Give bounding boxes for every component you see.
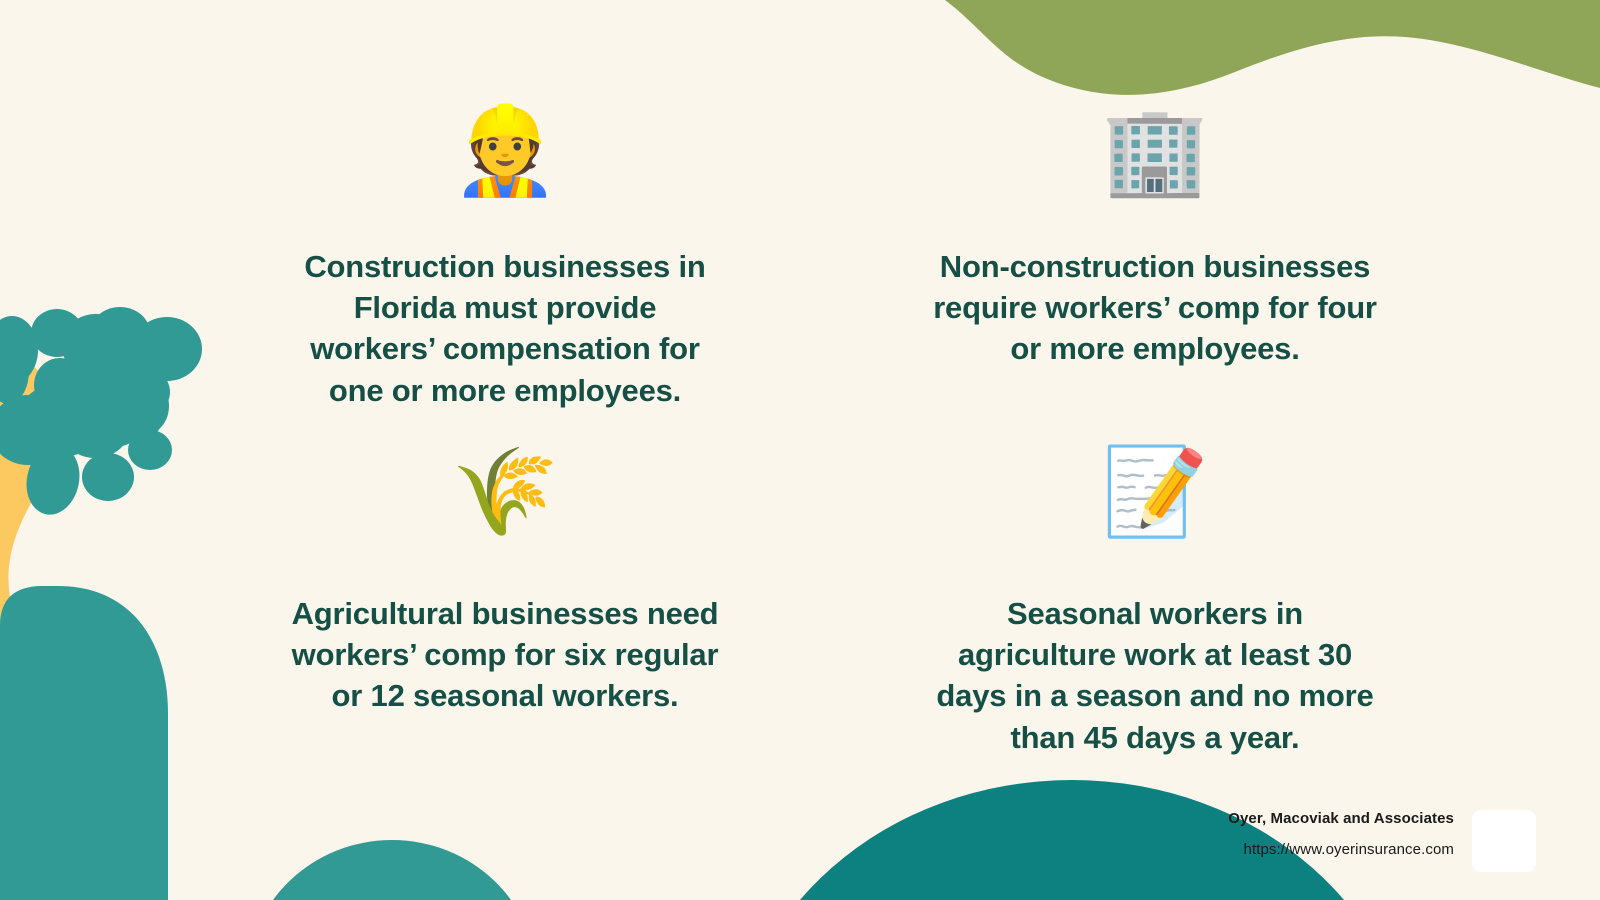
office-building-icon: 🏢 [1101,92,1208,210]
brand-block: Oyer, Macoviak and Associates https://ww… [1228,810,1454,858]
card-non-construction-text: Non-construction businesses require work… [930,246,1380,370]
card-agricultural-text: Agricultural businesses need workers’ co… [290,593,720,717]
infographic-canvas: 👷 Construction businesses in Florida mus… [0,0,1600,900]
card-construction: 👷 Construction businesses in Florida mus… [180,60,830,411]
company-url[interactable]: https://www.oyerinsurance.com [1244,841,1454,858]
logo-placeholder [1472,810,1536,872]
card-seasonal: 📝 Seasonal workers in agriculture work a… [830,411,1480,760]
memo-icon: 📝 [1101,433,1208,551]
card-seasonal-text: Seasonal workers in agriculture work at … [930,593,1380,758]
company-name: Oyer, Macoviak and Associates [1228,810,1454,827]
construction-worker-icon: 👷 [451,92,558,210]
cards-grid: 👷 Construction businesses in Florida mus… [0,0,1600,900]
sheaf-of-rice-icon: 🌾 [451,433,558,551]
card-construction-text: Construction businesses in Florida must … [290,246,720,411]
card-agricultural: 🌾 Agricultural businesses need workers’ … [180,411,830,760]
card-non-construction: 🏢 Non-construction businesses require wo… [830,60,1480,411]
